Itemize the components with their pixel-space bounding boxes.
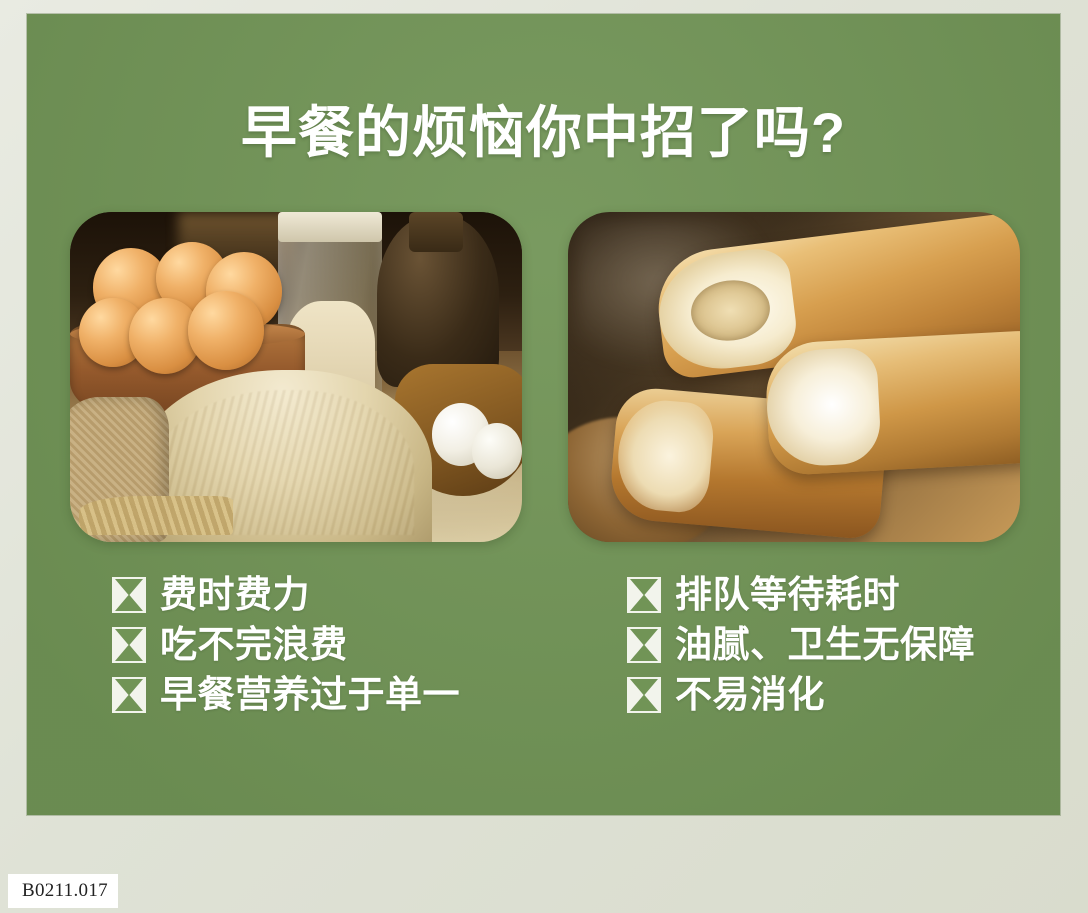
x-mark-icon <box>627 677 661 713</box>
list-item[interactable]: 费时费力 <box>112 570 460 620</box>
list-item[interactable]: 不易消化 <box>627 670 975 720</box>
list-item[interactable]: 早餐营养过于单一 <box>112 670 460 720</box>
fried-dough-stick <box>764 330 1020 476</box>
slide-canvas: 早餐的烦恼你中招了吗? <box>27 14 1060 815</box>
list-item-label: 吃不完浪费 <box>160 624 348 666</box>
x-mark-icon <box>112 627 146 663</box>
list-item-label: 排队等待耗时 <box>675 574 900 616</box>
pain-point-column-left: 费时费力 吃不完浪费 早餐营养过于单一 <box>112 570 460 720</box>
list-item-label: 油腻、卫生无保障 <box>675 624 975 666</box>
slide-page: 早餐的烦恼你中招了吗? <box>0 0 1088 913</box>
wheat-stalk <box>79 496 233 536</box>
glass-jar-lid <box>278 212 382 242</box>
dough-torn-end <box>764 347 882 469</box>
list-item[interactable]: 排队等待耗时 <box>627 570 975 620</box>
x-mark-icon <box>112 577 146 613</box>
pain-point-lists: 费时费力 吃不完浪费 早餐营养过于单一 <box>27 570 1060 750</box>
dough-torn-end <box>614 396 716 514</box>
list-item-label: 不易消化 <box>675 674 825 716</box>
fried-dough-sticks-photo <box>568 212 1020 542</box>
white-egg <box>472 423 522 479</box>
clay-jug-neck <box>409 212 463 252</box>
x-mark-icon <box>627 577 661 613</box>
watermark-code-box: B0211.017 <box>8 874 118 908</box>
list-item-label: 费时费力 <box>160 574 310 616</box>
brown-egg <box>188 291 265 370</box>
page-title: 早餐的烦恼你中招了吗? <box>27 102 1060 164</box>
list-item[interactable]: 吃不完浪费 <box>112 620 460 670</box>
list-item-label: 早餐营养过于单一 <box>160 674 460 716</box>
pain-point-column-right: 排队等待耗时 油腻、卫生无保障 不易消化 <box>627 570 975 720</box>
list-item[interactable]: 油腻、卫生无保障 <box>627 620 975 670</box>
x-mark-icon <box>627 627 661 663</box>
photo-row <box>70 212 1020 542</box>
x-mark-icon <box>112 677 146 713</box>
eggs-flour-ingredients-photo <box>70 212 522 542</box>
watermark-code: B0211.017 <box>22 880 108 902</box>
